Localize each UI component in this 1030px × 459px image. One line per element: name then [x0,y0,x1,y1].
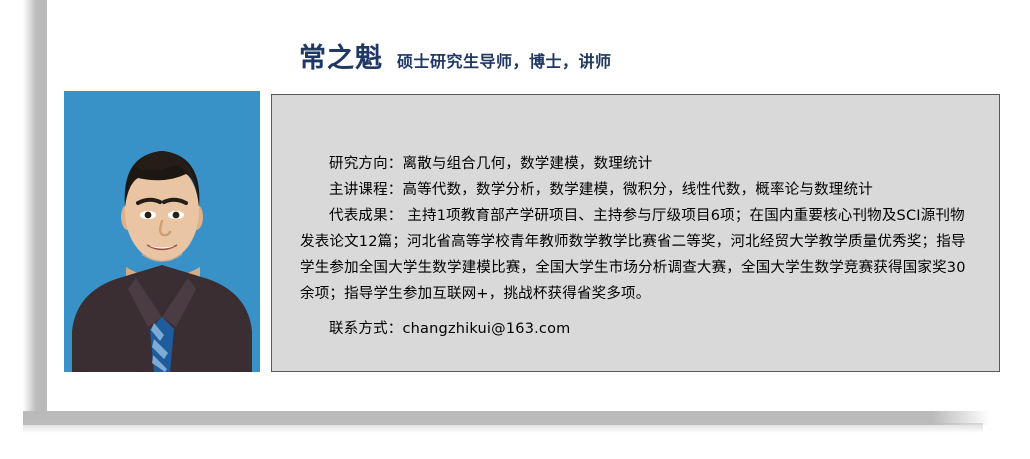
info-line-contact: 联系方式：changzhikui@163.com [300,316,975,342]
page-title: 常之魁 硕士研究生导师，博士，讲师 [299,36,612,75]
info-panel: 研究方向：离散与组合几何，数学建模，数理统计 主讲课程：高等代数，数学分析，数学… [271,94,1000,372]
profile-page: 常之魁 硕士研究生导师，博士，讲师 [0,0,1030,459]
person-name: 常之魁 [299,36,383,75]
card-shadow-left [23,0,47,424]
info-line-achievements: 代表成果： 主持1项教育部产学研项目、主持参与厅级项目6项；在国内重要核心刊物及… [300,203,975,307]
info-line-courses: 主讲课程：高等代数，数学分析，数学建模，微积分，线性代数，概率论与数理统计 [300,177,975,203]
card-shadow-bottom [23,411,990,425]
portrait-photo [64,91,260,372]
person-titles: 硕士研究生导师，博士，讲师 [397,48,612,72]
card-shadow-bottom-fade [23,423,983,433]
info-content: 研究方向：离散与组合几何，数学建模，数理统计 主讲课程：高等代数，数学分析，数学… [272,95,999,342]
info-line-research: 研究方向：离散与组合几何，数学建模，数理统计 [300,151,975,177]
